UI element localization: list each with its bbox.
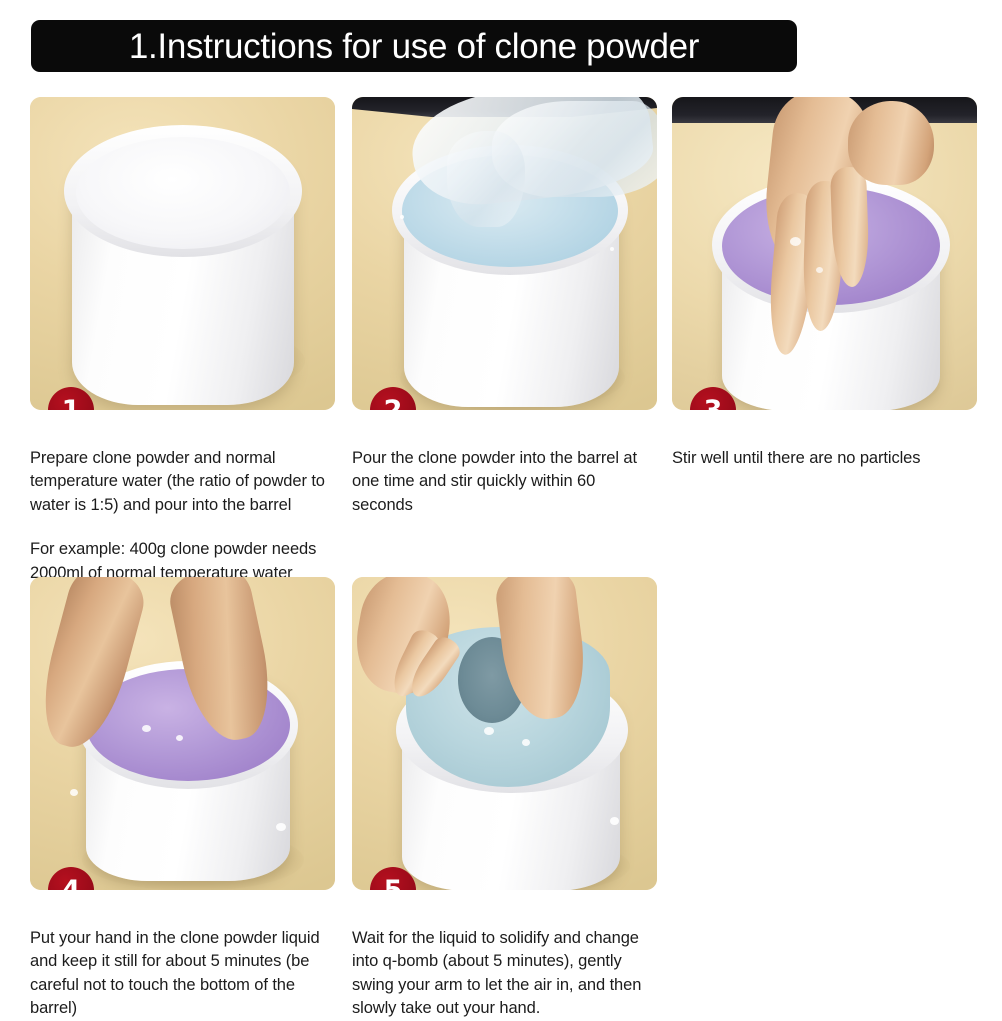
- step-caption-5: Wait for the liquid to solidify and chan…: [352, 927, 657, 1021]
- step-number: 3: [704, 397, 723, 411]
- step-photo-1: 1: [30, 97, 335, 410]
- caption-paragraph: Pour the clone powder into the barrel at…: [352, 447, 657, 517]
- caption-paragraph: Stir well until there are no particles: [672, 447, 972, 470]
- liquid-droplet: [176, 735, 183, 741]
- spilled-droplet: [610, 817, 619, 825]
- step-caption-4: Put your hand in the clone powder liquid…: [30, 927, 340, 1021]
- step-photo-3: 3: [672, 97, 977, 410]
- step-card-1: 1 Prepare clone powder and normal temper…: [30, 97, 335, 585]
- page-title-banner: 1.Instructions for use of clone powder: [31, 20, 797, 72]
- powder-speck: [610, 247, 614, 251]
- step-number: 4: [62, 877, 81, 891]
- spilled-droplet: [276, 823, 286, 831]
- step-number: 2: [384, 397, 403, 411]
- spilled-droplet: [70, 789, 78, 796]
- caption-paragraph: Put your hand in the clone powder liquid…: [30, 927, 340, 1021]
- barrel-interior: [76, 137, 290, 249]
- step-card-5: 5 Wait for the liquid to solidify and ch…: [352, 577, 657, 1021]
- page-title: 1.Instructions for use of clone powder: [129, 29, 699, 64]
- step-number: 1: [62, 397, 81, 411]
- powder-speck: [400, 215, 404, 219]
- liquid-droplet: [522, 739, 530, 746]
- liquid-droplet: [816, 267, 823, 273]
- step-caption-3: Stir well until there are no particles: [672, 447, 972, 470]
- step-number: 5: [384, 877, 403, 891]
- bag-spout: [447, 131, 525, 227]
- step-caption-2: Pour the clone powder into the barrel at…: [352, 447, 657, 517]
- step-photo-2: 2: [352, 97, 657, 410]
- liquid-droplet: [790, 237, 801, 246]
- liquid-droplet: [142, 725, 151, 732]
- step-card-3: 3 Stir well until there are no particles: [672, 97, 977, 470]
- knuckles: [848, 101, 934, 185]
- step-photo-4: 4: [30, 577, 335, 890]
- step-photo-5: 5: [352, 577, 657, 890]
- step-caption-1: Prepare clone powder and normal temperat…: [30, 447, 340, 585]
- caption-paragraph: Wait for the liquid to solidify and chan…: [352, 927, 657, 1021]
- liquid-droplet: [484, 727, 494, 735]
- step-card-2: 2 Pour the clone powder into the barrel …: [352, 97, 657, 517]
- step-card-4: 4 Put your hand in the clone powder liqu…: [30, 577, 335, 1021]
- caption-paragraph: Prepare clone powder and normal temperat…: [30, 447, 340, 517]
